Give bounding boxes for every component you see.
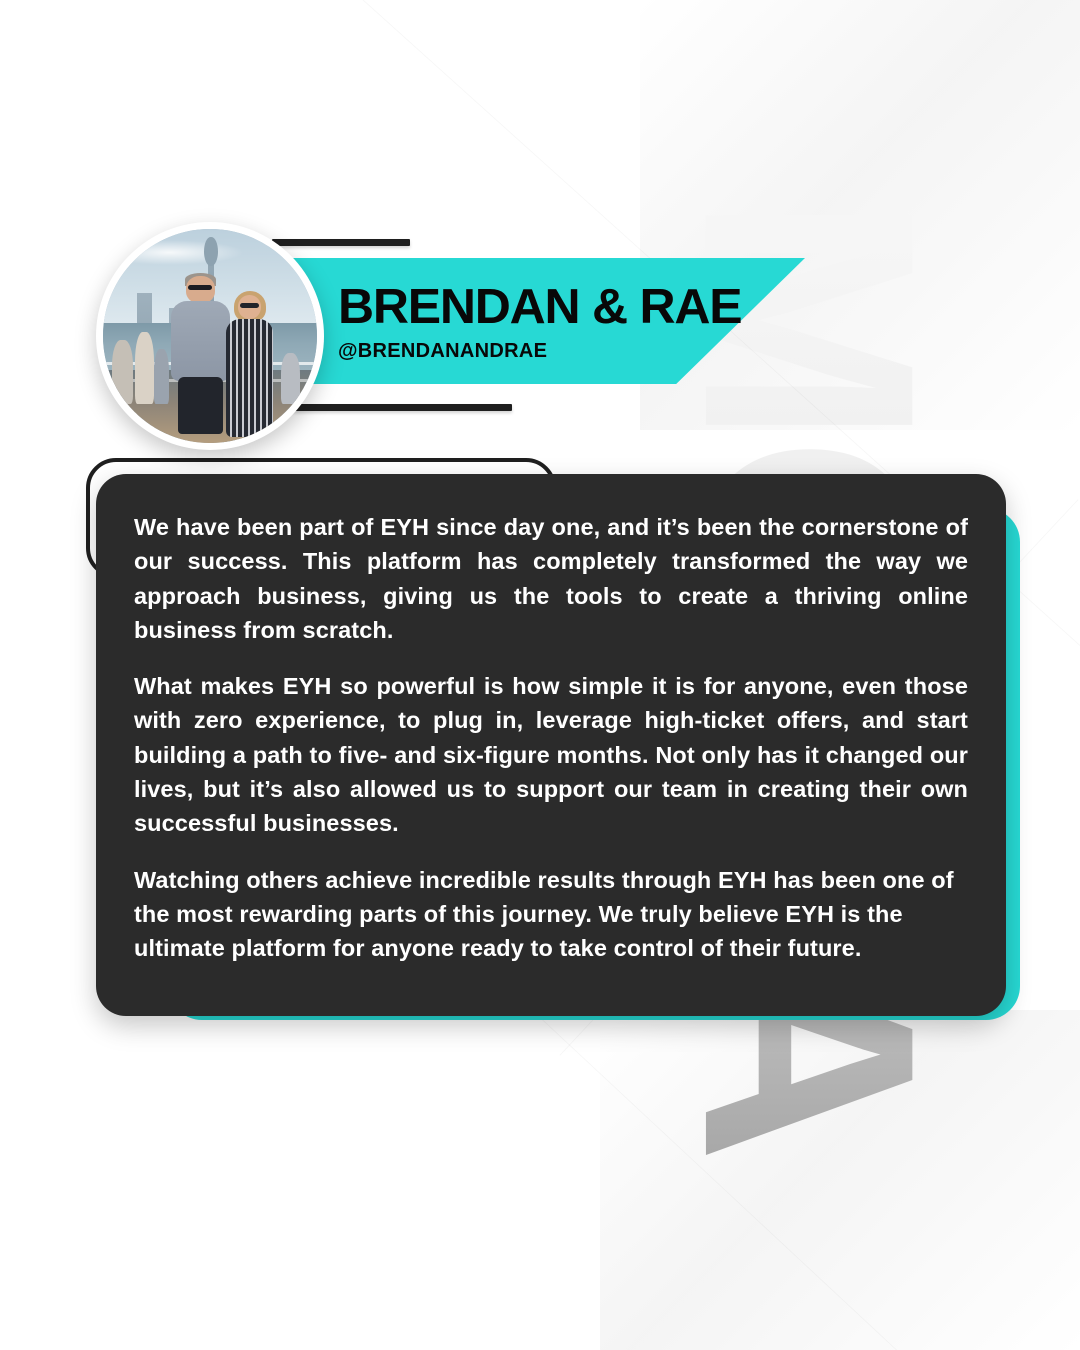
photo-person-woman (223, 295, 277, 436)
paper-crease-line (500, 980, 1080, 1350)
testimonial-paragraph: What makes EYH so powerful is how simple… (134, 669, 968, 840)
profile-header: BRENDAN & RAE @BRENDANANDRAE (0, 0, 1080, 470)
paper-sheen-bottom (600, 1010, 1080, 1350)
testimonial-text: We have been part of EYH since day one, … (134, 510, 968, 966)
photo-legs (178, 377, 223, 434)
profile-name: BRENDAN & RAE (338, 283, 766, 332)
photo-background-person (154, 349, 169, 405)
profile-handle: @BRENDANANDRAE (338, 341, 758, 361)
avatar (96, 222, 324, 450)
photo-head (186, 276, 215, 303)
testimonial-graphic: MONIA BRENDAN & RAE @BRENDANANDRAE (0, 0, 1080, 1350)
photo-background-person (135, 332, 154, 405)
photo-background-person (281, 353, 300, 404)
photo-torso (171, 301, 231, 380)
name-banner-content: BRENDAN & RAE @BRENDANANDRAE (338, 283, 758, 361)
testimonial-card: We have been part of EYH since day one, … (96, 474, 1006, 1016)
testimonial-paragraph: Watching others achieve incredible resul… (134, 863, 968, 966)
testimonial-paragraph: We have been part of EYH since day one, … (134, 510, 968, 647)
photo-background-person (112, 340, 133, 404)
avatar-photo (103, 229, 317, 443)
photo-dress (226, 319, 273, 436)
